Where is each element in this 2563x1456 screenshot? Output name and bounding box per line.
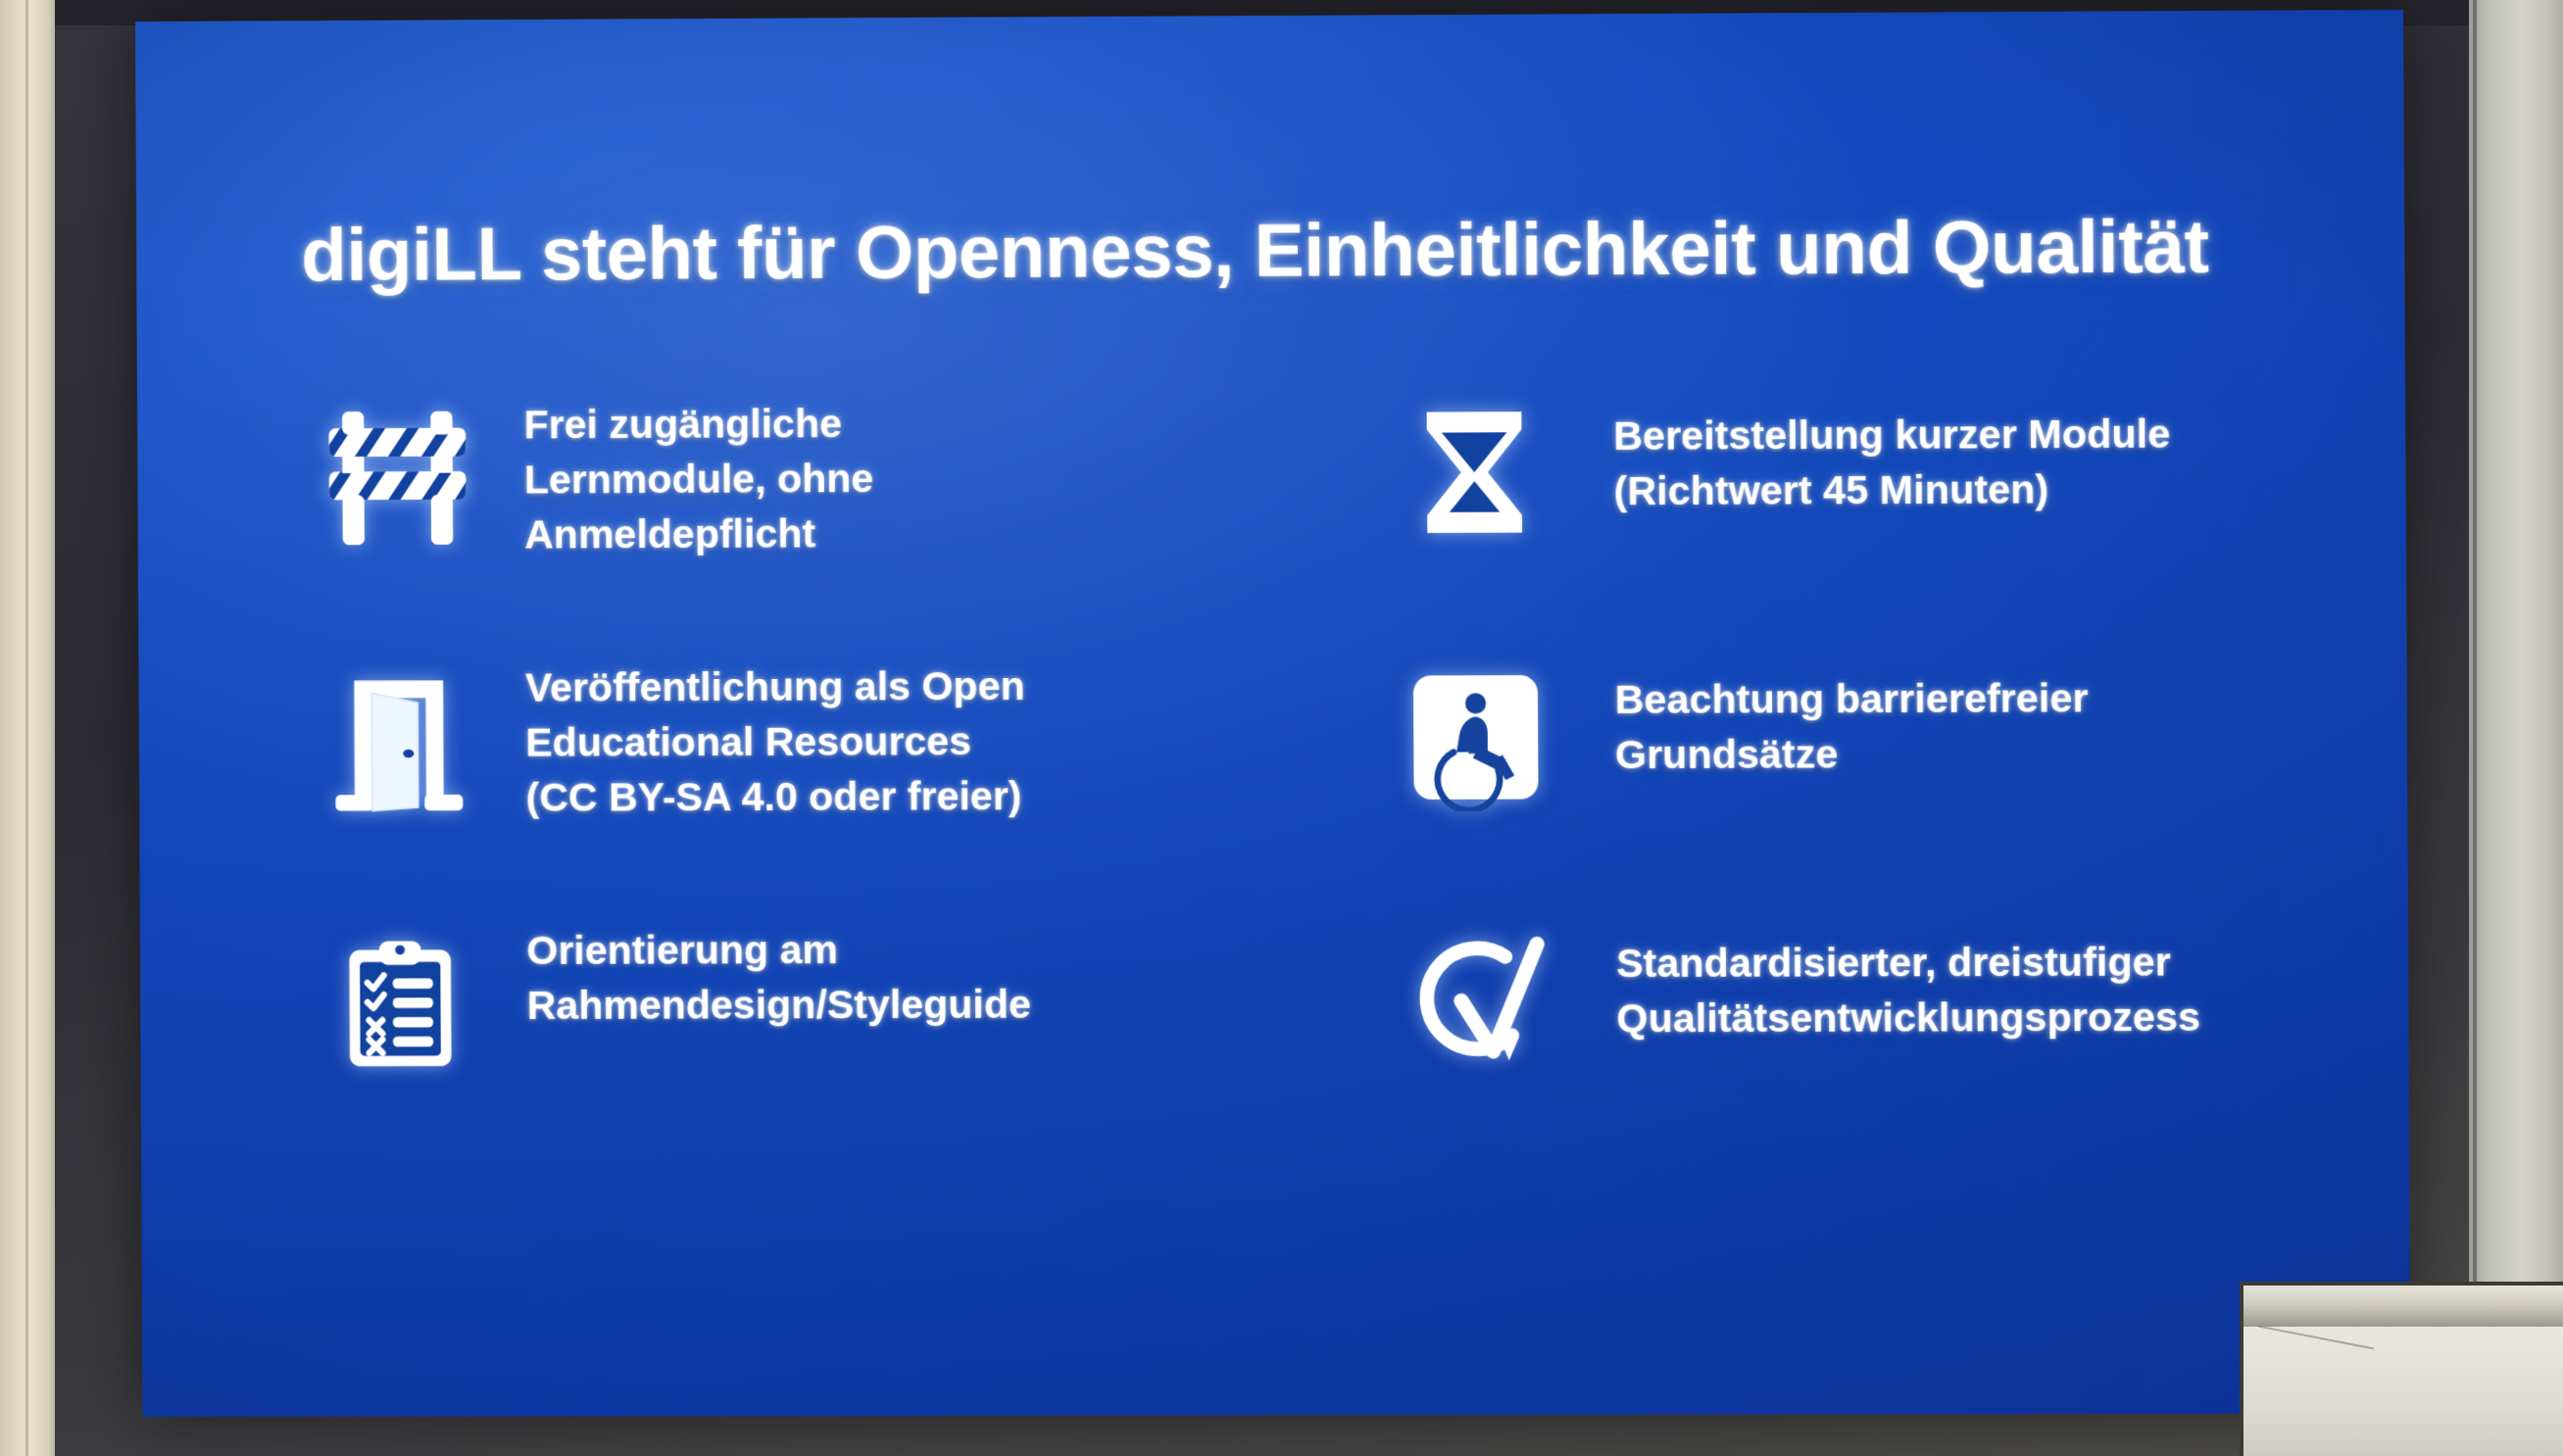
open-door-icon	[305, 648, 492, 835]
feature-text: Standardisierter, dreistufiger Qualitäts…	[1570, 905, 2200, 1046]
right-wall-seam	[2473, 0, 2477, 1456]
flipchart-paper	[2243, 1327, 2563, 1456]
feature-line: Bereitstellung kurzer Module	[1613, 407, 2170, 463]
checkmark-cycle-icon	[1383, 907, 1571, 1094]
flipchart	[2234, 1282, 2563, 1456]
feature-line: (Richtwert 45 Minuten)	[1613, 461, 2170, 518]
feature-text: Beachtung barrierefreier Grundsätze	[1569, 642, 2089, 783]
feature-line: Anmeldepflicht	[524, 507, 874, 562]
feature-item-styleguide: Orientierung am Rahmendesign/Styleguide	[307, 908, 1243, 1174]
flipchart-rail	[2243, 1286, 2563, 1327]
slide-title: digiLL steht für Openness, Einheitlichke…	[301, 204, 2274, 299]
feature-line: (CC BY-SA 4.0 oder freier)	[525, 769, 1025, 825]
feature-item-oer: Veröffentlichung als Open Educational Re…	[305, 645, 1241, 910]
feature-line: Rahmendesign/Styleguide	[527, 977, 1032, 1033]
feature-item-qualitaetsprozess: Standardisierter, dreistufiger Qualitäts…	[1359, 905, 2300, 1172]
feature-item-frei-zugaengliche: Frei zugängliche Lernmodule, ohne Anmeld…	[304, 381, 1240, 648]
feature-line: Qualitätsentwicklungsprozess	[1616, 990, 2200, 1046]
feature-line: Orientierung am	[526, 922, 1031, 978]
feature-text: Veröffentlichung als Open Educational Re…	[492, 646, 1026, 825]
left-wall	[0, 0, 55, 1456]
wheelchair-accessibility-icon	[1382, 644, 1570, 831]
feature-line: Standardisierter, dreistufiger	[1616, 935, 2200, 992]
feature-line: Frei zugängliche	[523, 397, 873, 453]
hourglass-icon	[1380, 380, 1568, 567]
feature-item-kurze-module: Bereitstellung kurzer Module (Richtwert …	[1356, 377, 2297, 645]
feature-grid: Frei zugängliche Lernmodule, ohne Anmeld…	[304, 377, 2300, 1174]
feature-line: Lernmodule, ohne	[524, 452, 874, 508]
feature-line: Educational Resources	[525, 714, 1025, 771]
feature-text: Bereitstellung kurzer Module (Richtwert …	[1568, 377, 2171, 519]
right-wall	[2469, 0, 2563, 1456]
feature-text: Frei zugängliche Lernmodule, ohne Anmeld…	[490, 383, 873, 562]
feature-line: Beachtung barrierefreier	[1614, 671, 2088, 728]
feature-text: Orientierung am Rahmendesign/Styleguide	[493, 908, 1031, 1033]
feature-line: Veröffentlichung als Open	[525, 659, 1025, 716]
clipboard-checklist-icon	[307, 910, 494, 1097]
presentation-slide: digiLL steht für Openness, Einheitlichke…	[135, 10, 2411, 1417]
feature-line: Grundsätze	[1615, 726, 2089, 783]
barrier-icon	[304, 384, 491, 571]
left-wall-seam	[25, 0, 28, 1456]
room-scene: digiLL steht für Openness, Einheitlichke…	[0, 0, 2563, 1456]
feature-item-barrierefreiheit: Beachtung barrierefreier Grundsätze	[1357, 641, 2298, 907]
